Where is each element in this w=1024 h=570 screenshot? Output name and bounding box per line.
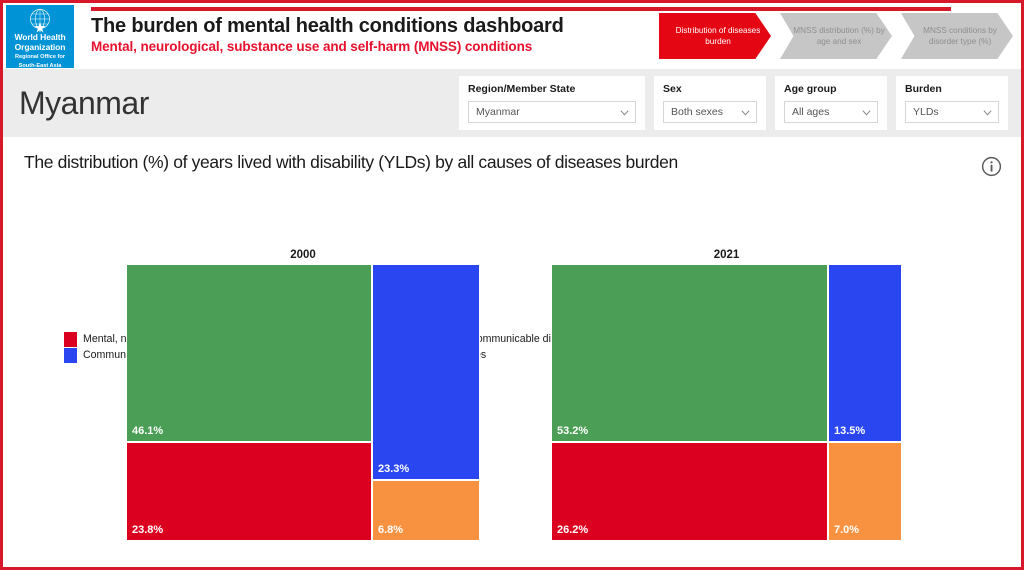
filter-label: Region/Member State — [468, 83, 636, 96]
mosaic-title-2000: 2000 — [126, 248, 480, 262]
burden-select-value: YLDs — [913, 105, 939, 119]
region-select[interactable]: Myanmar — [468, 101, 636, 123]
logo-line-2: Organization — [15, 43, 66, 53]
who-logo: World Health Organization Regional Offic… — [6, 5, 74, 68]
tab-label: Distribution of diseases burden — [671, 25, 765, 47]
treemap-cell-value: 46.1% — [127, 425, 163, 441]
sex-select-value: Both sexes — [671, 105, 723, 119]
filter-region-member-state: Region/Member State Myanmar — [459, 76, 645, 130]
treemap-cell-communicable-2000[interactable]: 23.3% — [372, 264, 480, 480]
dashboard-root: World Health Organization Regional Offic… — [0, 0, 1024, 570]
treemap-cell-noncommunicable-2021[interactable]: 53.2% — [551, 264, 828, 442]
age-group-select-value: All ages — [792, 105, 829, 119]
tab-nav: Distribution of diseases burden MNSS dis… — [659, 13, 1013, 59]
treemap-cell-value: 53.2% — [552, 425, 588, 441]
legend-swatch — [64, 348, 77, 363]
chevron-down-icon — [619, 107, 630, 118]
tab-label: MNSS conditions by disorder type (%) — [913, 25, 1007, 47]
filter-group: Region/Member State Myanmar Sex Both sex… — [459, 76, 1008, 130]
treemap-cell-value: 23.8% — [127, 524, 163, 540]
tab-distribution-of-diseases-burden[interactable]: Distribution of diseases burden — [659, 13, 771, 59]
treemap-cell-value: 23.3% — [373, 463, 409, 479]
treemap-cell-mnss-2000[interactable]: 23.8% — [126, 442, 372, 541]
treemap-2000: 46.1% 23.8% 23.3% 6.8% — [126, 264, 480, 541]
chevron-down-icon — [740, 107, 751, 118]
filter-label: Sex — [663, 83, 757, 96]
page-header: World Health Organization Regional Offic… — [3, 3, 1021, 69]
chevron-down-icon — [861, 107, 872, 118]
treemap-cell-value: 13.5% — [829, 425, 865, 441]
treemap-cell-value: 6.8% — [373, 524, 403, 540]
info-circle-icon[interactable] — [981, 156, 1002, 177]
selected-country-heading: Myanmar — [3, 86, 149, 120]
tab-label: MNSS distribution (%) by age and sex — [792, 25, 886, 47]
treemap-cell-communicable-2021[interactable]: 13.5% — [828, 264, 902, 442]
filter-sex: Sex Both sexes — [654, 76, 766, 130]
chevron-down-icon — [982, 107, 993, 118]
filter-burden: Burden YLDs — [896, 76, 1008, 130]
tab-mnss-conditions-by-disorder-type[interactable]: MNSS conditions by disorder type (%) — [901, 13, 1013, 59]
treemap-cell-mnss-2021[interactable]: 26.2% — [551, 442, 828, 541]
chart-title: The distribution (%) of years lived with… — [3, 137, 1021, 173]
burden-select[interactable]: YLDs — [905, 101, 999, 123]
treemap-2021: 53.2% 26.2% 13.5% 7.0% — [551, 264, 902, 541]
chart-panel: The distribution (%) of years lived with… — [3, 137, 1021, 567]
legend-swatch — [64, 332, 77, 347]
who-emblem-icon — [25, 7, 55, 33]
treemap-cell-value: 7.0% — [829, 524, 859, 540]
treemap-cell-injuries-2021[interactable]: 7.0% — [828, 442, 902, 541]
treemap-cell-injuries-2000[interactable]: 6.8% — [372, 480, 480, 541]
header-rule — [91, 7, 951, 11]
logo-line-3: Regional Office for — [15, 54, 65, 61]
age-group-select[interactable]: All ages — [784, 101, 878, 123]
treemap-cell-value: 26.2% — [552, 524, 588, 540]
mosaic-title-2021: 2021 — [551, 248, 902, 262]
filter-bar: Myanmar Region/Member State Myanmar Sex … — [3, 69, 1021, 137]
filter-label: Age group — [784, 83, 878, 96]
treemap-cell-noncommunicable-2000[interactable]: 46.1% — [126, 264, 372, 442]
sex-select[interactable]: Both sexes — [663, 101, 757, 123]
filter-age-group: Age group All ages — [775, 76, 887, 130]
region-select-value: Myanmar — [476, 105, 520, 119]
tab-mnss-distribution-by-age-and-sex[interactable]: MNSS distribution (%) by age and sex — [780, 13, 892, 59]
filter-label: Burden — [905, 83, 999, 96]
